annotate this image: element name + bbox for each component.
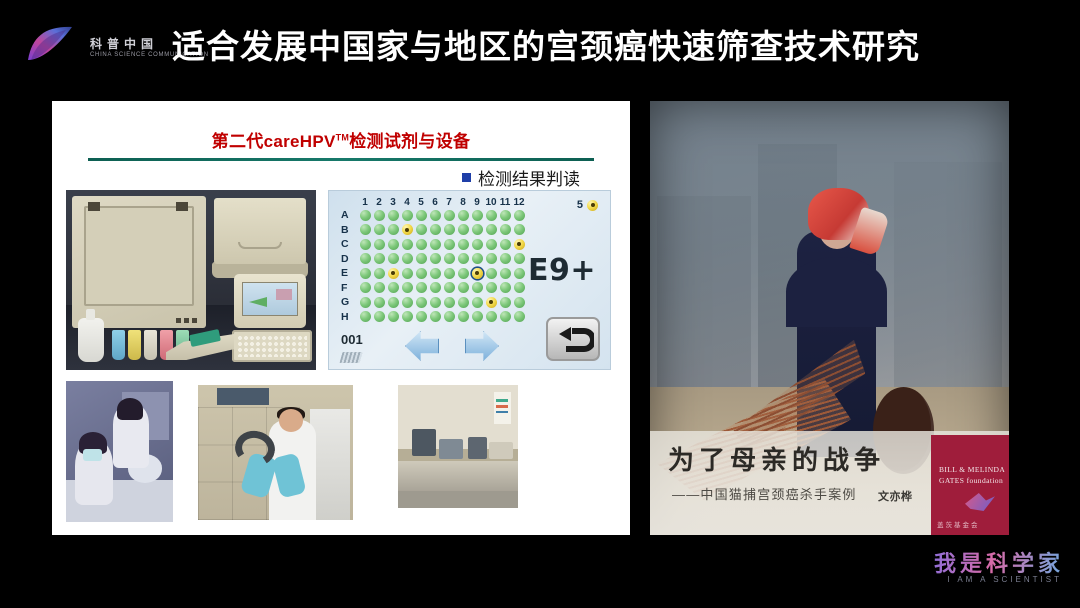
- well-H1[interactable]: [358, 310, 372, 325]
- well-dot-icon: [402, 210, 413, 221]
- well-dot-icon: [388, 210, 399, 221]
- well-A7[interactable]: [442, 208, 456, 223]
- well-dot-icon: [360, 311, 371, 322]
- well-dot-icon: [514, 210, 525, 221]
- well-G6[interactable]: [428, 295, 442, 310]
- well-G9[interactable]: [470, 295, 484, 310]
- row-label: F: [341, 282, 358, 294]
- reagent-bottle: [78, 318, 104, 362]
- well-dot-icon: [430, 297, 441, 308]
- positive-count-indicator: 5: [577, 199, 598, 211]
- trademark-mark: TM: [336, 132, 350, 142]
- well-dot-icon: [486, 297, 497, 308]
- well-dot-icon: [388, 268, 399, 279]
- well-F8[interactable]: [456, 281, 470, 296]
- well-B4[interactable]: [400, 223, 414, 238]
- well-dot-icon: [430, 210, 441, 221]
- row-label: C: [341, 238, 358, 250]
- well-E10[interactable]: [484, 266, 498, 281]
- well-dot-icon: [458, 239, 469, 250]
- well-C3[interactable]: [386, 237, 400, 252]
- well-A12[interactable]: [512, 208, 526, 223]
- well-dot-icon: [444, 239, 455, 250]
- well-dot-icon: [360, 282, 371, 293]
- well-dot-icon: [444, 311, 455, 322]
- left-slide: 第二代careHPVTM检测试剂与设备 检测结果判读: [52, 101, 630, 535]
- well-F5[interactable]: [414, 281, 428, 296]
- well-G12[interactable]: [512, 295, 526, 310]
- run-id-label: 001: [341, 332, 363, 347]
- watermark-title-cn: 我是科学家: [934, 546, 1064, 578]
- well-dot-icon: [486, 224, 497, 235]
- well-dot-icon: [402, 253, 413, 264]
- right-photo-book-cover: 为了母亲的战争 ——中国猫捕宫颈癌杀手案例 文亦桦 BILL & MELINDA…: [650, 101, 1009, 535]
- well-dot-icon: [514, 311, 525, 322]
- well-D1[interactable]: [358, 252, 372, 267]
- well-D8[interactable]: [456, 252, 470, 267]
- well-dot-icon: [444, 282, 455, 293]
- well-A9[interactable]: [470, 208, 484, 223]
- subsection-label: 检测结果判读: [478, 165, 580, 190]
- well-dot-icon: [500, 311, 511, 322]
- well-A4[interactable]: [400, 208, 414, 223]
- well-E11[interactable]: [498, 266, 512, 281]
- well-B5[interactable]: [414, 223, 428, 238]
- incubator-handle: [238, 242, 282, 249]
- well-G8[interactable]: [456, 295, 470, 310]
- p3-analyzer-3: [489, 442, 513, 459]
- slide-heading-suffix: 检测试剂与设备: [349, 132, 470, 151]
- row-label: A: [341, 209, 358, 221]
- screen-pink-marker: [276, 289, 292, 300]
- p1-person-standing-head: [117, 398, 143, 421]
- cover-title: 为了母亲的战争: [668, 440, 885, 477]
- well-E3[interactable]: [386, 266, 400, 281]
- photo-lab-bench-equipment: [398, 385, 518, 508]
- well-dot-icon: [514, 268, 525, 279]
- well-A11[interactable]: [498, 208, 512, 223]
- well-F11[interactable]: [498, 281, 512, 296]
- well-dot-icon: [486, 268, 497, 279]
- well-dot-icon: [430, 224, 441, 235]
- col-label: 7: [442, 197, 456, 208]
- col-label: 2: [372, 197, 386, 208]
- back-button[interactable]: [546, 317, 600, 361]
- well-F10[interactable]: [484, 281, 498, 296]
- well-B12[interactable]: [512, 223, 526, 238]
- well-dot-icon: [374, 297, 385, 308]
- well-E2[interactable]: [372, 266, 386, 281]
- well-D2[interactable]: [372, 252, 386, 267]
- well-H12[interactable]: [512, 310, 526, 325]
- well-E7[interactable]: [442, 266, 456, 281]
- well-H8[interactable]: [456, 310, 470, 325]
- slide-heading-prefix: 第二代careHPV: [212, 132, 336, 151]
- page-title: 适合发展中国家与地区的宫颈癌快速筛查技术研究: [172, 20, 920, 68]
- well-E12[interactable]: [512, 266, 526, 281]
- well-G2[interactable]: [372, 295, 386, 310]
- gates-logo-line-1: BILL & MELINDA: [939, 465, 1005, 474]
- subsection-heading: 检测结果判读: [462, 165, 580, 190]
- col-label: 8: [456, 197, 470, 208]
- well-dot-icon: [486, 282, 497, 293]
- well-dot-icon: [458, 253, 469, 264]
- handheld-reader: [234, 274, 306, 328]
- well-H5[interactable]: [414, 310, 428, 325]
- col-label: 3: [386, 197, 400, 208]
- well-G10[interactable]: [484, 295, 498, 310]
- well-dot-icon: [514, 253, 525, 264]
- well-dot-icon: [472, 224, 483, 235]
- well-dot-icon: [430, 311, 441, 322]
- well-H7[interactable]: [442, 310, 456, 325]
- well-dot-icon: [388, 253, 399, 264]
- gates-foundation-logo-panel: BILL & MELINDA GATES foundation 盖茨基金会: [931, 435, 1009, 535]
- well-dot-icon: [416, 297, 427, 308]
- well-A6[interactable]: [428, 208, 442, 223]
- well-E1[interactable]: [358, 266, 372, 281]
- microplate: [232, 330, 312, 362]
- well-dot-icon: [416, 224, 427, 235]
- row-label: H: [341, 311, 358, 323]
- well-C9[interactable]: [470, 237, 484, 252]
- well-F3[interactable]: [386, 281, 400, 296]
- row-label: G: [341, 296, 358, 308]
- well-dot-icon: [444, 297, 455, 308]
- well-dot-icon: [458, 297, 469, 308]
- well-E6[interactable]: [428, 266, 442, 281]
- well-H4[interactable]: [400, 310, 414, 325]
- well-dot-icon: [472, 268, 483, 279]
- col-label: 6: [428, 197, 442, 208]
- well-dot-icon: [458, 224, 469, 235]
- well-dot-icon: [500, 282, 511, 293]
- well-dot-icon: [444, 253, 455, 264]
- well-B7[interactable]: [442, 223, 456, 238]
- well-D11[interactable]: [498, 252, 512, 267]
- well-C12[interactable]: [512, 237, 526, 252]
- lid-clip-left-icon: [88, 202, 100, 211]
- well-A8[interactable]: [456, 208, 470, 223]
- well-dot-icon: [360, 239, 371, 250]
- next-arrow-button[interactable]: [465, 331, 499, 361]
- science-communication-wing-icon: [22, 24, 82, 64]
- well-E9[interactable]: [470, 266, 484, 281]
- well-C6[interactable]: [428, 237, 442, 252]
- col-label: 4: [400, 197, 414, 208]
- well-A2[interactable]: [372, 208, 386, 223]
- well-dot-icon: [472, 297, 483, 308]
- well-dot-icon: [374, 253, 385, 264]
- well-dot-icon: [444, 268, 455, 279]
- well-dot-icon: [388, 297, 399, 308]
- well-dot-icon: [500, 297, 511, 308]
- well-A10[interactable]: [484, 208, 498, 223]
- well-B3[interactable]: [386, 223, 400, 238]
- gates-logo-cn: 盖茨基金会: [937, 519, 980, 529]
- well-row-A: A: [341, 208, 526, 223]
- well-dot-icon: [444, 210, 455, 221]
- well-dot-icon: [360, 253, 371, 264]
- well-A3[interactable]: [386, 208, 400, 223]
- header-bar: 科普中国 CHINA SCIENCE COMMUNICATION 适合发展中国家…: [0, 0, 1080, 88]
- photo-specimen-carousel: [198, 385, 353, 520]
- well-D10[interactable]: [484, 252, 498, 267]
- well-D9[interactable]: [470, 252, 484, 267]
- well-B6[interactable]: [428, 223, 442, 238]
- col-label: 11: [498, 197, 512, 208]
- bottle-neck: [86, 309, 95, 320]
- well-dot-icon: [472, 253, 483, 264]
- well-dot-icon: [500, 239, 511, 250]
- well-dot-icon: [416, 239, 427, 250]
- well-row-C: C: [341, 237, 526, 252]
- well-row-F: F: [341, 281, 526, 296]
- well-dot-icon: [514, 297, 525, 308]
- well-G7[interactable]: [442, 295, 456, 310]
- well-C1[interactable]: [358, 237, 372, 252]
- program-watermark: 我是科学家 I AM A SCIENTIST: [912, 546, 1064, 592]
- well-dot-icon: [360, 224, 371, 235]
- col-label: 12: [512, 197, 526, 208]
- well-dot-icon: [514, 282, 525, 293]
- title-divider: [88, 158, 594, 161]
- well-dot-icon: [500, 224, 511, 235]
- well-dot-icon: [388, 239, 399, 250]
- well-dot-icon: [360, 210, 371, 221]
- photo-careHPV-instrument: [66, 190, 316, 370]
- previous-arrow-button[interactable]: [405, 331, 439, 361]
- well-G5[interactable]: [414, 295, 428, 310]
- screen-green-marker: [249, 297, 267, 307]
- well-dot-icon: [402, 311, 413, 322]
- well-B11[interactable]: [498, 223, 512, 238]
- p3-analyzer-1: [439, 439, 463, 459]
- well-G1[interactable]: [358, 295, 372, 310]
- well-dot-icon: [374, 268, 385, 279]
- well-dot-icon: [360, 268, 371, 279]
- well-F7[interactable]: [442, 281, 456, 296]
- well-dot-icon: [430, 239, 441, 250]
- plate-reader-lid: [84, 206, 194, 306]
- well-dot-icon: [430, 282, 441, 293]
- column-header-row: 1 2 3 4 5 6 7 8 9 10 11 12: [358, 197, 526, 208]
- well-dot-icon: [444, 224, 455, 235]
- well-D3[interactable]: [386, 252, 400, 267]
- well-C11[interactable]: [498, 237, 512, 252]
- well-B8[interactable]: [456, 223, 470, 238]
- well-F2[interactable]: [372, 281, 386, 296]
- well-dot-icon: [374, 210, 385, 221]
- well-dot-icon: [374, 239, 385, 250]
- well-H10[interactable]: [484, 310, 498, 325]
- well-G4[interactable]: [400, 295, 414, 310]
- well-dot-icon: [486, 253, 497, 264]
- slide-stage: 科普中国 CHINA SCIENCE COMMUNICATION 适合发展中国家…: [0, 0, 1080, 608]
- well-dot-icon: [500, 210, 511, 221]
- well-A1[interactable]: [358, 208, 372, 223]
- result-readout-value: E9+: [528, 253, 596, 288]
- p3-bench: [398, 461, 518, 491]
- well-dot-icon: [374, 282, 385, 293]
- well-dot-icon: [388, 311, 399, 322]
- well-F1[interactable]: [358, 281, 372, 296]
- col-label: 1: [358, 197, 372, 208]
- well-dot-icon: [402, 297, 413, 308]
- well-E8[interactable]: [456, 266, 470, 281]
- well-H9[interactable]: [470, 310, 484, 325]
- well-dot-icon: [416, 210, 427, 221]
- well-C7[interactable]: [442, 237, 456, 252]
- well-F6[interactable]: [428, 281, 442, 296]
- well-dot-icon: [458, 282, 469, 293]
- well-D7[interactable]: [442, 252, 456, 267]
- brand-logo: 科普中国 CHINA SCIENCE COMMUNICATION: [18, 22, 178, 68]
- well-row-B: B: [341, 223, 526, 238]
- well-row-G: G: [341, 295, 526, 310]
- result-readout-panel: 5 1 2 3 4 5 6 7 8 9 10 11 12 A: [328, 190, 611, 370]
- lid-clip-right-icon: [176, 202, 188, 211]
- well-dot-icon: [514, 239, 525, 250]
- well-dot-icon: [402, 224, 413, 235]
- well-B1[interactable]: [358, 223, 372, 238]
- col-label: 9: [470, 197, 484, 208]
- well-C2[interactable]: [372, 237, 386, 252]
- well-dot-icon: [486, 311, 497, 322]
- well-B10[interactable]: [484, 223, 498, 238]
- cover-author: 文亦桦: [878, 488, 913, 504]
- well-dot-icon: [514, 224, 525, 235]
- well-H2[interactable]: [372, 310, 386, 325]
- well-E5[interactable]: [414, 266, 428, 281]
- well-dot-icon: [500, 268, 511, 279]
- well-G11[interactable]: [498, 295, 512, 310]
- well-row-E: E: [341, 266, 526, 281]
- well-dot-icon: [388, 282, 399, 293]
- well-dot-icon: [472, 210, 483, 221]
- well-dot-icon: [458, 268, 469, 279]
- reagent-tube-blue: [112, 330, 125, 360]
- well-dot-icon: [374, 224, 385, 235]
- status-leds: [176, 318, 200, 323]
- p3-monitor: [412, 429, 436, 456]
- reagent-tube-yellow: [128, 330, 141, 360]
- well-D6[interactable]: [428, 252, 442, 267]
- well-C8[interactable]: [456, 237, 470, 252]
- well-H3[interactable]: [386, 310, 400, 325]
- well-plate-grid: 1 2 3 4 5 6 7 8 9 10 11 12 ABCDEFGH: [341, 197, 526, 324]
- return-arrow-icon: [556, 327, 594, 354]
- well-dot-icon: [472, 282, 483, 293]
- well-dot-icon: [388, 224, 399, 235]
- cover-subtitle: ——中国猫捕宫颈癌杀手案例: [672, 484, 857, 503]
- col-label: 5: [414, 197, 428, 208]
- well-dot-icon: [430, 253, 441, 264]
- well-E4[interactable]: [400, 266, 414, 281]
- well-F12[interactable]: [512, 281, 526, 296]
- watermark-title-en: I AM A SCIENTIST: [947, 575, 1062, 584]
- well-row-D: D: [341, 252, 526, 267]
- well-G3[interactable]: [386, 295, 400, 310]
- gates-logo-line-2: GATES foundation: [939, 476, 1003, 485]
- keyboard-icon[interactable]: [339, 352, 362, 363]
- well-D12[interactable]: [512, 252, 526, 267]
- positive-count-value: 5: [577, 199, 583, 211]
- well-dot-icon: [500, 253, 511, 264]
- well-dot-icon: [486, 239, 497, 250]
- well-F9[interactable]: [470, 281, 484, 296]
- well-H6[interactable]: [428, 310, 442, 325]
- well-H11[interactable]: [498, 310, 512, 325]
- well-D5[interactable]: [414, 252, 428, 267]
- well-dot-icon: [402, 239, 413, 250]
- well-dot-icon: [472, 311, 483, 322]
- well-dot-icon: [402, 268, 413, 279]
- handheld-reader-screen: [242, 282, 298, 316]
- brand-name-cn: 科普中国: [90, 35, 158, 52]
- well-C4[interactable]: [400, 237, 414, 252]
- well-dot-icon: [374, 311, 385, 322]
- well-dot-icon: [486, 210, 497, 221]
- well-dot-icon: [458, 311, 469, 322]
- well-B9[interactable]: [470, 223, 484, 238]
- p3-analyzer-2: [468, 437, 487, 459]
- positive-well-legend-icon: [587, 200, 598, 211]
- row-label: B: [341, 224, 358, 236]
- row-label: E: [341, 267, 358, 279]
- well-dot-icon: [430, 268, 441, 279]
- well-row-H: H: [341, 310, 526, 325]
- well-dot-icon: [416, 311, 427, 322]
- gates-bird-icon: [965, 493, 995, 511]
- well-C10[interactable]: [484, 237, 498, 252]
- well-dot-icon: [416, 282, 427, 293]
- well-dot-icon: [458, 210, 469, 221]
- well-rows: ABCDEFGH: [341, 208, 526, 324]
- p1-face-mask: [83, 449, 102, 462]
- p3-wall-poster: [494, 392, 511, 424]
- well-dot-icon: [416, 253, 427, 264]
- well-D4[interactable]: [400, 252, 414, 267]
- bullet-square-icon: [462, 173, 471, 182]
- reagent-tube-white: [144, 330, 157, 360]
- incubator-lid: [214, 198, 306, 264]
- well-F4[interactable]: [400, 281, 414, 296]
- photo-lab-technicians: [66, 381, 173, 522]
- row-label: D: [341, 253, 358, 265]
- microplate-wells: [237, 335, 307, 357]
- slide-heading: 第二代careHPVTM检测试剂与设备: [52, 127, 630, 152]
- well-dot-icon: [416, 268, 427, 279]
- well-A5[interactable]: [414, 208, 428, 223]
- col-label: 10: [484, 197, 498, 208]
- well-dot-icon: [402, 282, 413, 293]
- well-C5[interactable]: [414, 237, 428, 252]
- well-dot-icon: [360, 297, 371, 308]
- well-dot-icon: [472, 239, 483, 250]
- p2-wall-sign: [217, 388, 270, 406]
- well-B2[interactable]: [372, 223, 386, 238]
